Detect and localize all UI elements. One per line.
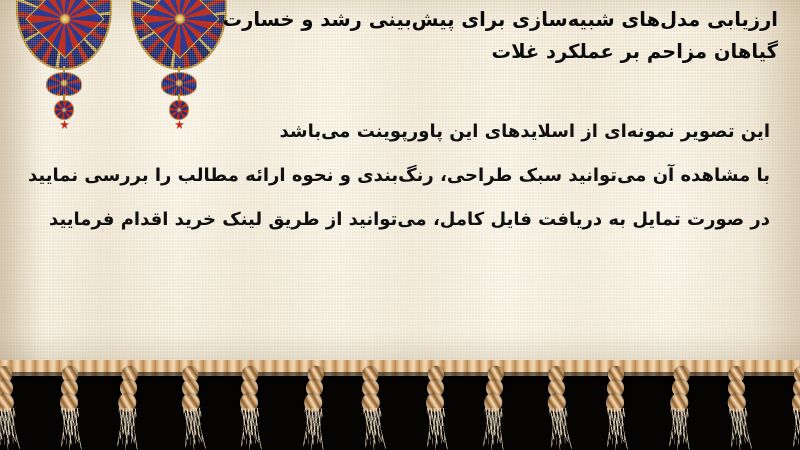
fringe-tassel [0,363,22,450]
fringe-tassel [544,363,574,450]
ornament-pendant-large [46,72,82,96]
fringe-tassel [300,363,330,450]
fringe-tassel [666,363,696,450]
fringe-tassel [480,363,510,450]
medallion-shape-icon [131,0,227,70]
fringe-tassel [790,364,800,450]
body-line-3: در صورت تمایل به دریافت فایل کامل، می‌تو… [22,198,770,242]
fringe-tassel [358,363,388,450]
persian-medallion-ornament-left [16,0,112,70]
fringe-tassel [178,363,208,450]
slide-title-line-2: گیاهان مزاحم بر عملکرد غلات [218,36,778,68]
body-line-1: این تصویر نمونه‌ای از اسلایدهای این پاور… [22,110,770,154]
fringe-tassel [604,364,630,450]
ornament-pendant-large [161,72,197,96]
slide-title: ارزیابی مدل‌های شبیه‌سازی برای پیش‌بینی … [218,4,778,68]
fringe-tassel [724,363,754,450]
fringe-tassel [424,364,450,450]
medallion-shape-icon [16,0,112,70]
body-line-2: با مشاهده آن می‌توانید سبک طراحی، رنگ‌بن… [22,154,770,198]
fringe-tassel [238,364,264,450]
slide-body-text: این تصویر نمونه‌ای از اسلایدهای این پاور… [22,110,770,242]
slide-title-line-1: ارزیابی مدل‌های شبیه‌سازی برای پیش‌بینی … [218,4,778,36]
presentation-slide: ارزیابی مدل‌های شبیه‌سازی برای پیش‌بینی … [0,0,800,450]
fringe-tassel [114,363,144,450]
persian-medallion-ornament-right [131,0,227,70]
fringe-tassel [58,364,84,450]
rug-fringe-border [0,360,800,450]
